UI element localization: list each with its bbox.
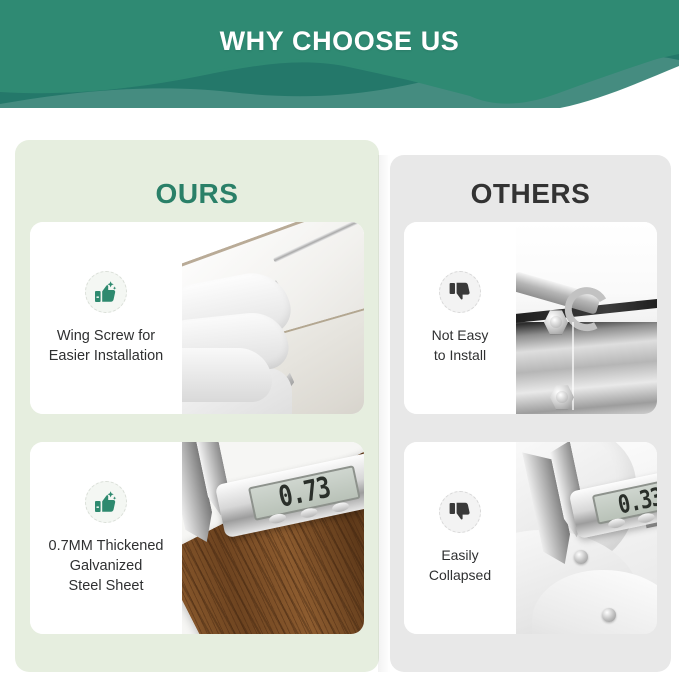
thumbs-up-icon — [85, 481, 127, 523]
thumbs-down-icon — [439, 491, 481, 533]
ours-heading: OURS — [15, 178, 379, 210]
ours-card-wing-screw[interactable]: Wing Screw for Easier Installation — [30, 222, 364, 414]
ours-card-text-block: 0.7MM Thickened Galvanized Steel Sheet — [30, 442, 182, 634]
ours-card-steel-sheet[interactable]: 0.7MM Thickened Galvanized Steel Sheet 0… — [30, 442, 364, 634]
thumbs-down-icon — [439, 271, 481, 313]
others-card-photo-wrench-bolt — [516, 222, 657, 414]
panel-divider — [378, 155, 390, 672]
ours-card-photo-caliper-wood: 0.73 — [182, 442, 364, 634]
ours-card-label: 0.7MM Thickened Galvanized Steel Sheet — [49, 536, 164, 596]
ours-card-text-block: Wing Screw for Easier Installation — [30, 222, 182, 414]
others-card-photo-caliper-white: 0.33 — [516, 442, 657, 634]
others-card-label: Not Easy to Install — [432, 326, 489, 365]
others-card-text-block: Easily Collapsed — [404, 442, 516, 634]
ours-card-photo-wing-screw — [182, 222, 364, 414]
others-card-easily-collapsed[interactable]: Easily Collapsed 0.33 — [404, 442, 657, 634]
others-card-text-block: Not Easy to Install — [404, 222, 516, 414]
others-card-not-easy-install[interactable]: Not Easy to Install — [404, 222, 657, 414]
thumbs-up-icon — [85, 271, 127, 313]
page-header: WHY CHOOSE US — [0, 0, 679, 108]
others-heading: OTHERS — [390, 178, 671, 210]
others-card-label: Easily Collapsed — [429, 546, 491, 585]
page-title: WHY CHOOSE US — [0, 26, 679, 57]
caliper-reading-value: 0.73 — [276, 472, 333, 514]
ours-card-label: Wing Screw for Easier Installation — [49, 326, 163, 366]
